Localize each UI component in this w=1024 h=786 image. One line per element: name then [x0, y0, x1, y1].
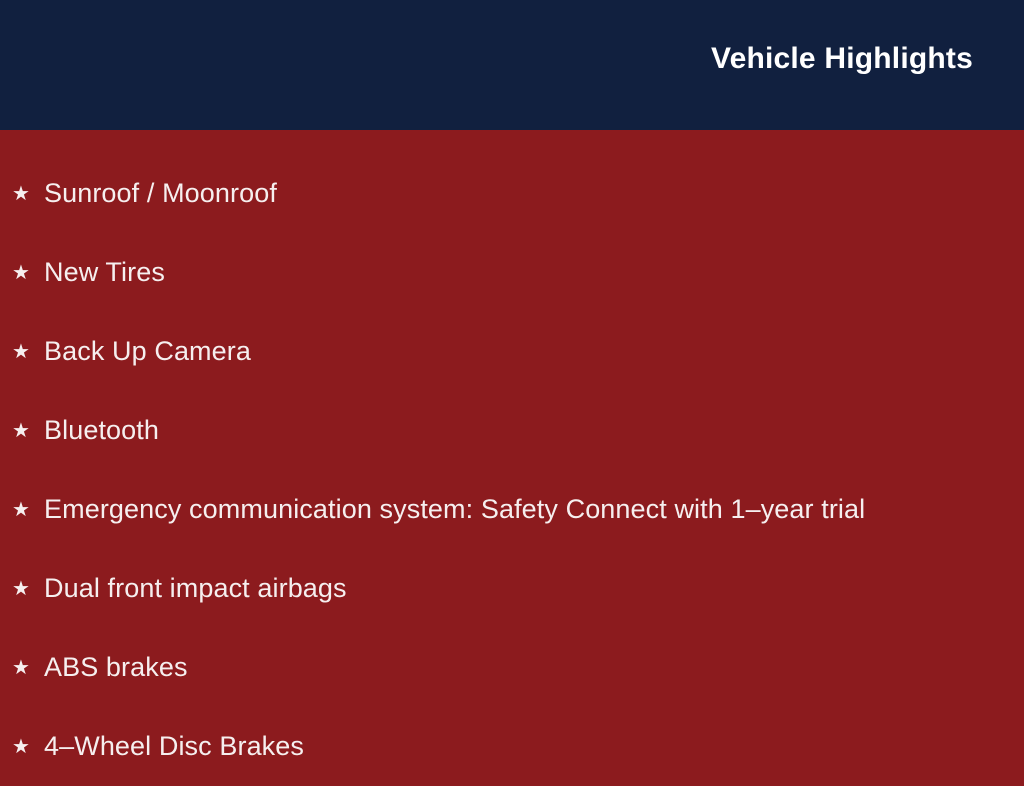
page-title: Vehicle Highlights — [711, 42, 973, 75]
list-item-label: New Tires — [44, 257, 165, 288]
star-bullet-icon: ★ — [12, 658, 44, 678]
star-bullet-icon: ★ — [12, 421, 44, 441]
star-bullet-icon: ★ — [12, 184, 44, 204]
star-bullet-icon: ★ — [12, 500, 44, 520]
slide-header: Vehicle Highlights — [0, 0, 1024, 130]
list-item: ★ 4–Wheel Disc Brakes — [0, 707, 1024, 786]
vehicle-highlights-list: ★ Sunroof / Moonroof ★ New Tires ★ Back … — [0, 154, 1024, 786]
list-item-label: ABS brakes — [44, 652, 188, 683]
list-item-label: Dual front impact airbags — [44, 573, 347, 604]
star-bullet-icon: ★ — [12, 737, 44, 757]
list-item: ★ Emergency communication system: Safety… — [0, 470, 1024, 549]
vehicle-highlights-slide: Vehicle Highlights ★ Sunroof / Moonroof … — [0, 0, 1024, 768]
list-item-label: Emergency communication system: Safety C… — [44, 494, 865, 525]
list-item: ★ Bluetooth — [0, 391, 1024, 470]
list-item-label: 4–Wheel Disc Brakes — [44, 731, 304, 762]
list-item-label: Bluetooth — [44, 415, 159, 446]
list-item-label: Sunroof / Moonroof — [44, 178, 277, 209]
star-bullet-icon: ★ — [12, 579, 44, 599]
list-item-label: Back Up Camera — [44, 336, 251, 367]
star-bullet-icon: ★ — [12, 342, 44, 362]
list-item: ★ Dual front impact airbags — [0, 549, 1024, 628]
list-item: ★ Sunroof / Moonroof — [0, 154, 1024, 233]
list-item: ★ ABS brakes — [0, 628, 1024, 707]
star-bullet-icon: ★ — [12, 263, 44, 283]
list-item: ★ New Tires — [0, 233, 1024, 312]
slide-body: ★ Sunroof / Moonroof ★ New Tires ★ Back … — [0, 130, 1024, 786]
list-item: ★ Back Up Camera — [0, 312, 1024, 391]
